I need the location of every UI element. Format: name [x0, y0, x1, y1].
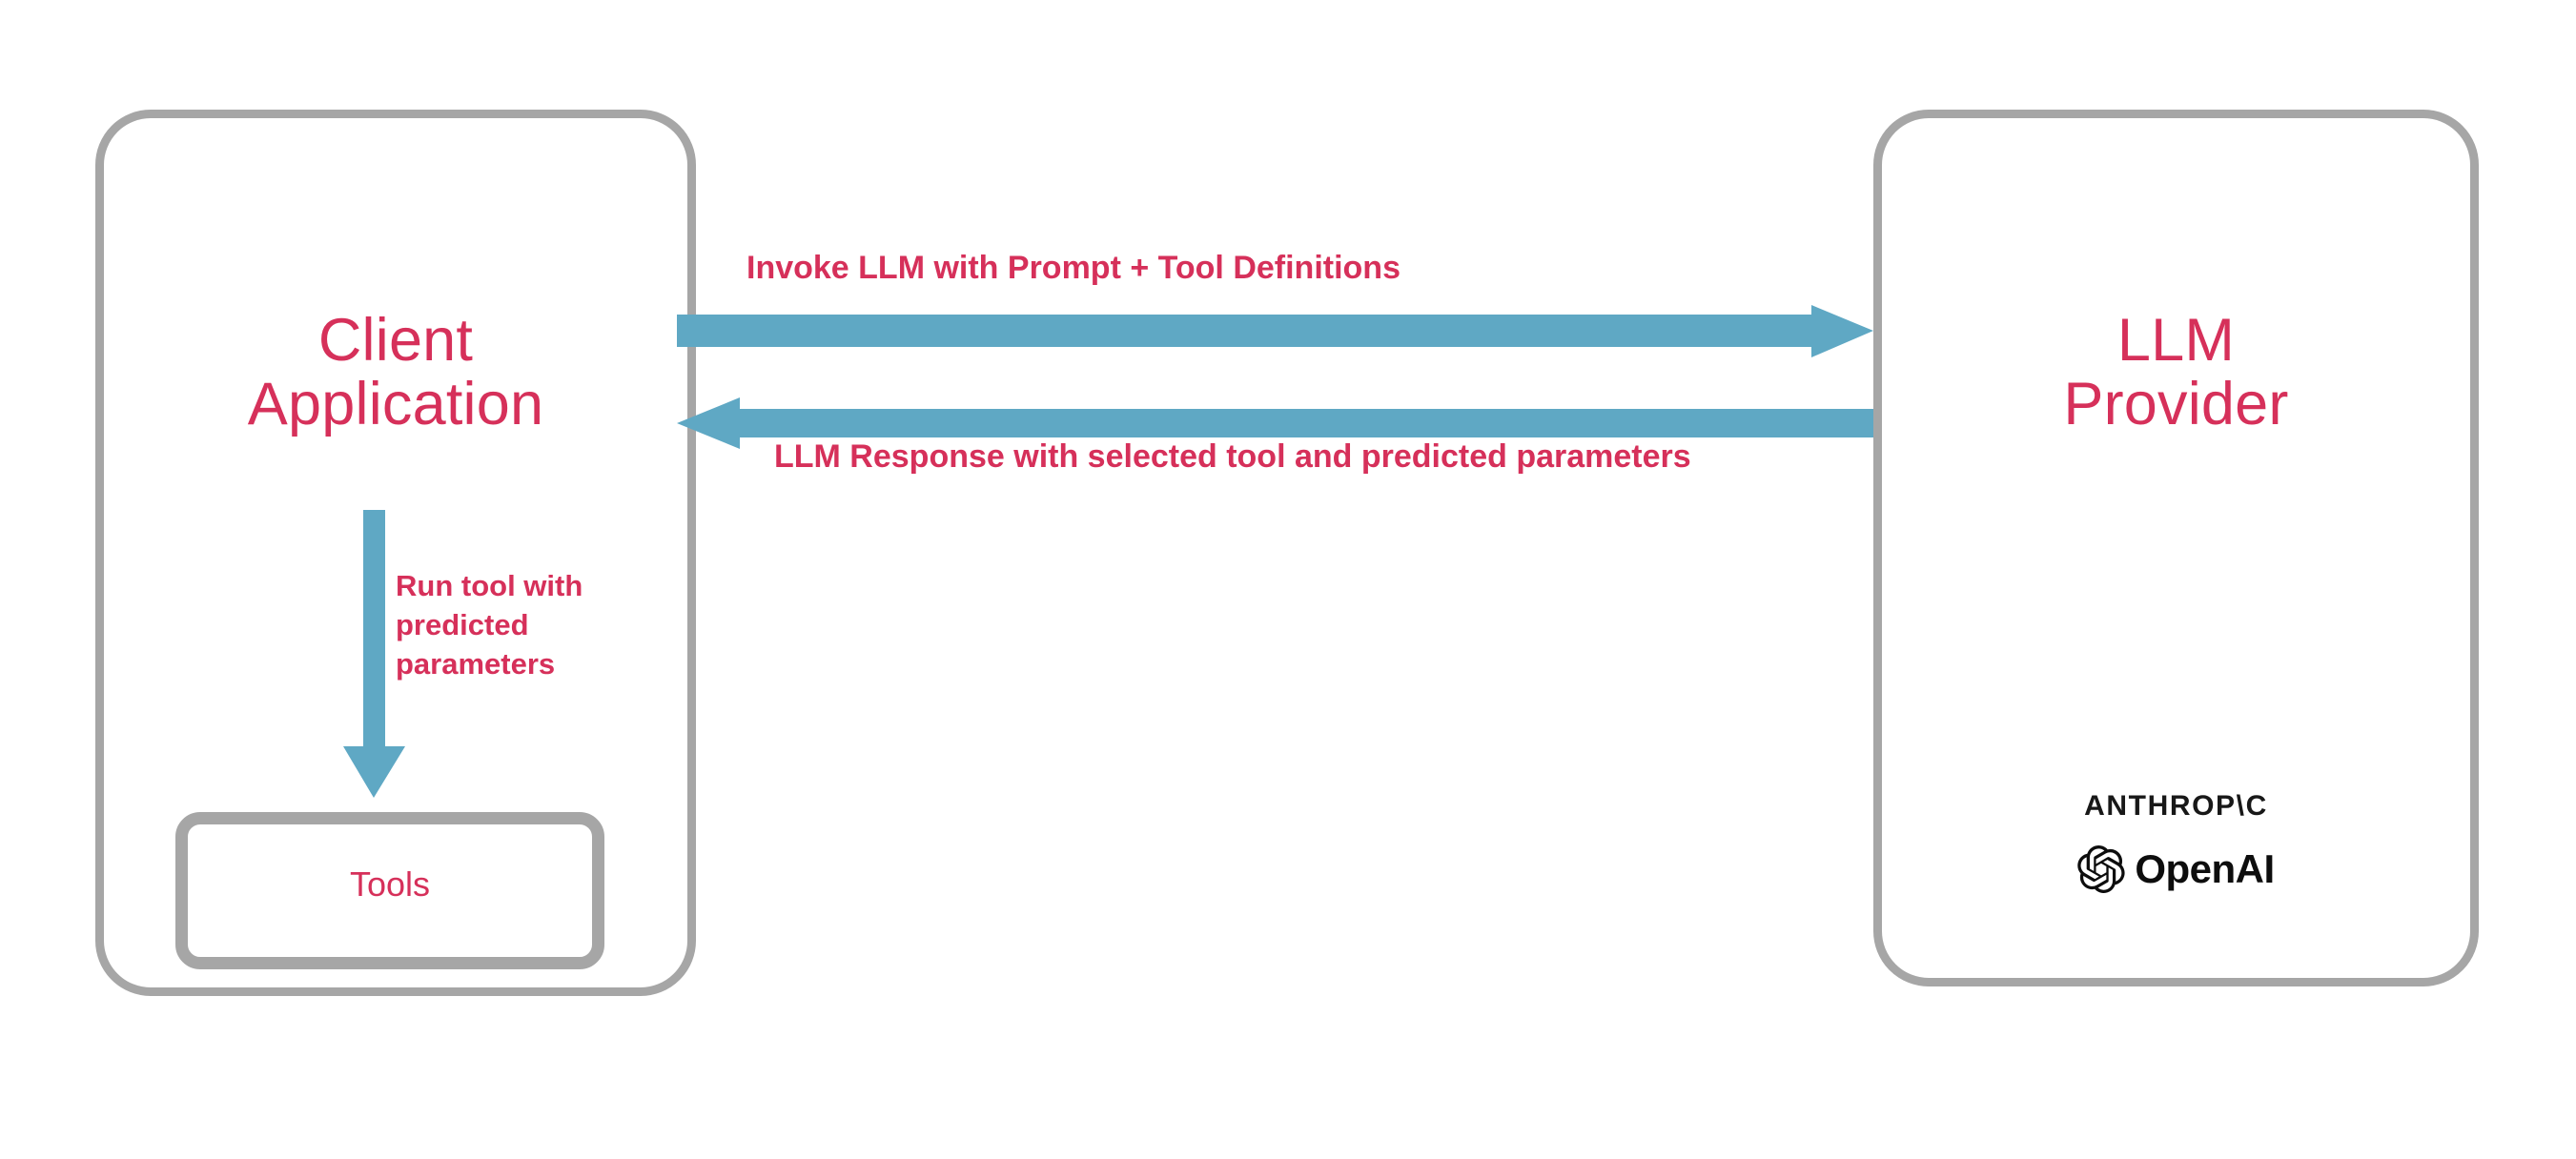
client-application-title-line-1: Client [104, 309, 687, 373]
edge-label-run-tool-line-2: predicted [396, 606, 682, 645]
anthropic-logo: ANTHROP\C [2084, 790, 2268, 823]
client-application-title: Client Application [104, 309, 687, 437]
edge-label-run-tool: Run tool with predicted parameters [396, 567, 682, 684]
tools-node[interactable]: Tools [175, 812, 604, 969]
llm-provider-title-line-2: Provider [1882, 373, 2470, 437]
tools-label: Tools [188, 864, 592, 905]
edge-label-run-tool-line-3: parameters [396, 645, 682, 684]
provider-logo-stack: ANTHROP\C OpenAI [1882, 790, 2470, 893]
edge-label-invoke: Invoke LLM with Prompt + Tool Definition… [746, 250, 1400, 287]
edge-label-run-tool-line-1: Run tool with [396, 567, 682, 606]
llm-provider-title: LLM Provider [1882, 309, 2470, 437]
openai-flower-icon [2077, 845, 2125, 893]
diagram-canvas: Client Application Tools LLM Provider AN… [0, 0, 2576, 1159]
edge-label-response: LLM Response with selected tool and pred… [774, 438, 1691, 476]
llm-provider-title-line-1: LLM [1882, 309, 2470, 373]
openai-wordmark: OpenAI [2135, 846, 2274, 892]
arrow-invoke-llm [677, 305, 1878, 372]
llm-provider-node[interactable]: LLM Provider ANTHROP\C OpenAI [1873, 110, 2479, 986]
client-application-title-line-2: Application [104, 373, 687, 437]
openai-logo: OpenAI [2077, 845, 2274, 893]
